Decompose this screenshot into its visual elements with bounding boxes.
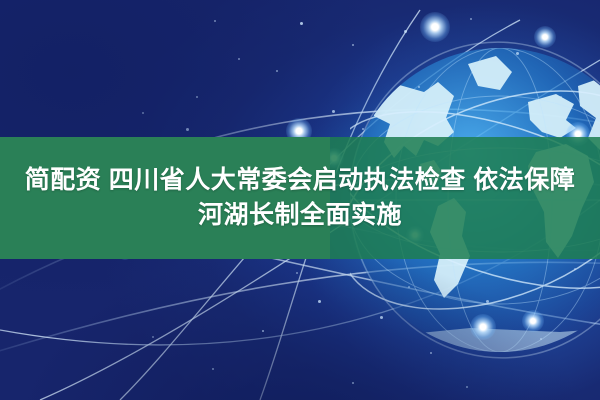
headline-line-1: 简配资 四川省人大常委会启动执法检查 依法保障 [21,167,579,195]
headline-block: 简配资 四川省人大常委会启动执法检查 依法保障 河湖长制全面实施 [0,137,600,259]
news-banner: 简配资 四川省人大常委会启动执法检查 依法保障 河湖长制全面实施 [0,0,600,400]
headline-line-2: 河湖长制全面实施 [198,202,402,230]
